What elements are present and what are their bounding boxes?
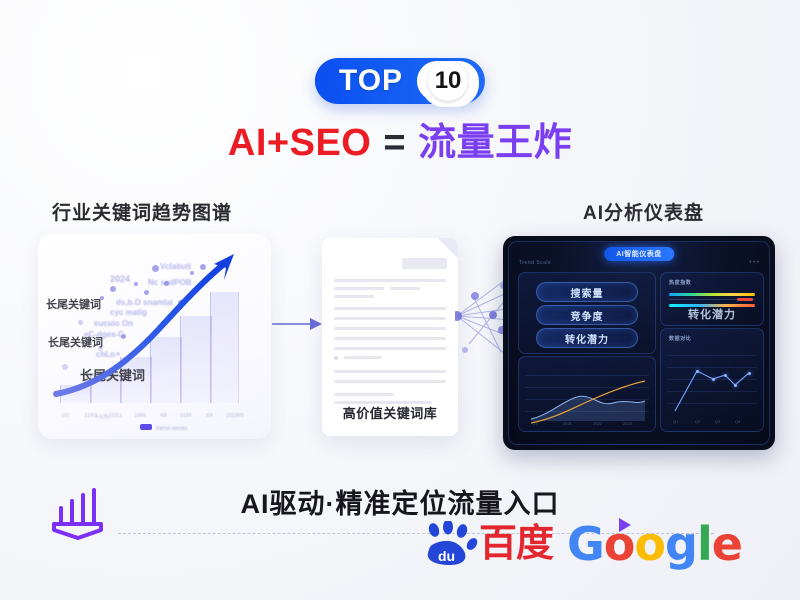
document-text-line <box>334 295 374 298</box>
gauge-bar-primary <box>669 293 755 296</box>
line-chart-panel: 数据对比 Q1 Q2 Q3 Q4 <box>660 328 764 432</box>
document-text-line <box>334 287 384 290</box>
metric-button-conversion[interactable]: 转化潜力 <box>536 328 638 348</box>
badge-rank-circle: 10 <box>417 61 479 101</box>
top-rank-badge: TOP 10 <box>315 58 485 104</box>
document-bullet <box>334 356 338 360</box>
document-text-line <box>334 393 394 396</box>
document-header-chip <box>402 258 447 269</box>
google-letter: o <box>634 517 665 571</box>
search-engine-logos: du 百度 Google <box>422 521 742 567</box>
chart-x-tick: 02LL <box>110 413 123 419</box>
node-dot <box>489 311 497 319</box>
document-text-line <box>334 370 446 373</box>
document-text-line <box>334 380 446 383</box>
dashboard-corner-tag: Trend Scale <box>519 260 551 266</box>
gauge-panel-title: 热度指数 <box>669 279 691 286</box>
document-text-line <box>334 279 446 282</box>
document-text-line <box>334 347 446 350</box>
line-chart-point <box>734 384 737 387</box>
chart-x-tick: 2024N <box>226 413 244 419</box>
headline-equals: = <box>371 122 418 164</box>
line-chart-point <box>696 370 699 373</box>
ai-dashboard-screen: AI智能仪表盘 Trend Scale • • • 搜索量 竞争度 转化潜力 <box>508 241 770 445</box>
metric-button-competition[interactable]: 竞争度 <box>536 305 638 325</box>
line-chart-point <box>724 374 727 377</box>
chart-x-tick: 184t <box>134 413 146 419</box>
node-dot <box>462 347 468 353</box>
google-letter: l <box>697 517 712 571</box>
document-text-line <box>334 327 446 330</box>
document-text-line <box>390 287 420 290</box>
line-chart-point <box>712 378 715 381</box>
dashboard-header-pill: AI智能仪表盘 <box>604 247 674 261</box>
chart-legend-label: trend-series <box>156 426 188 432</box>
baidu-du-text: du <box>438 548 455 564</box>
chart-x-tick: 1141 <box>84 413 97 419</box>
bar-chart-icon <box>48 486 110 544</box>
google-letter: g <box>665 517 697 571</box>
more-dots-icon[interactable]: • • • <box>749 260 759 266</box>
document-title: 高价值关键词库 <box>322 403 458 422</box>
line-chart-point <box>748 372 751 375</box>
keyword-trend-chart-card: Vclabuti Nc sadPOB ds,b.O snamlai cyc ma… <box>38 234 271 439</box>
area-chart-graphic <box>519 357 655 431</box>
document-text-line <box>334 317 446 320</box>
gauge-panel: 热度指数 转化潜力 <box>660 272 764 326</box>
chart-x-tick: 00 <box>62 413 69 419</box>
keyword-library-document: 高价值关键词库 <box>322 238 458 436</box>
metric-button-search-volume[interactable]: 搜索量 <box>536 282 638 302</box>
chart-x-axis-label: t-Eftu <box>96 414 110 420</box>
right-section-caption: AI分析仪表盘 <box>583 198 704 225</box>
badge-label: TOP <box>339 66 417 96</box>
play-triangle-icon <box>619 518 631 532</box>
document-text-line <box>344 356 382 359</box>
badge-rank-number: 10 <box>428 61 468 101</box>
baidu-logo-icon: du <box>422 521 478 567</box>
ai-dashboard-device: AI智能仪表盘 Trend Scale • • • 搜索量 竞争度 转化潜力 <box>503 236 775 450</box>
infographic-canvas: TOP 10 AI+SEO=流量王炸 行业关键词趋势图谱 AI分析仪表盘 <box>0 0 800 600</box>
gauge-marker <box>737 298 753 301</box>
chart-plot-area: Vclabuti Nc sadPOB ds,b.O snamlai cyc ma… <box>38 234 271 439</box>
flow-arrow-icon <box>272 316 324 332</box>
document-text-line <box>334 307 446 310</box>
chart-x-tick: 5sM <box>180 413 191 419</box>
document-text-line <box>334 337 446 340</box>
left-section-caption: 行业关键词趋势图谱 <box>52 198 232 225</box>
headline-result: 流量王炸 <box>418 122 572 164</box>
google-letter: e <box>712 517 742 571</box>
area-chart-panel: 1Y 2021 2022 2023 <box>518 356 656 432</box>
chart-x-tick: 48 <box>160 413 167 419</box>
metric-buttons-panel: 搜索量 竞争度 转化潜力 <box>518 272 656 354</box>
gauge-overlay-text: 转化潜力 <box>661 306 763 322</box>
trend-arrow-icon <box>38 234 271 439</box>
google-logo: Google <box>567 521 742 567</box>
page-title: AI+SEO=流量王炸 <box>0 124 800 162</box>
google-letter: G <box>567 517 604 571</box>
chart-legend-swatch <box>140 424 152 430</box>
node-dot <box>471 292 479 300</box>
baidu-logo-text: 百度 <box>479 525 553 563</box>
chart-x-tick: 69 <box>206 413 213 419</box>
footer-tagline: AI驱动·精准定位流量入口 <box>0 482 800 521</box>
headline-ai-seo: AI+SEO <box>228 122 371 164</box>
